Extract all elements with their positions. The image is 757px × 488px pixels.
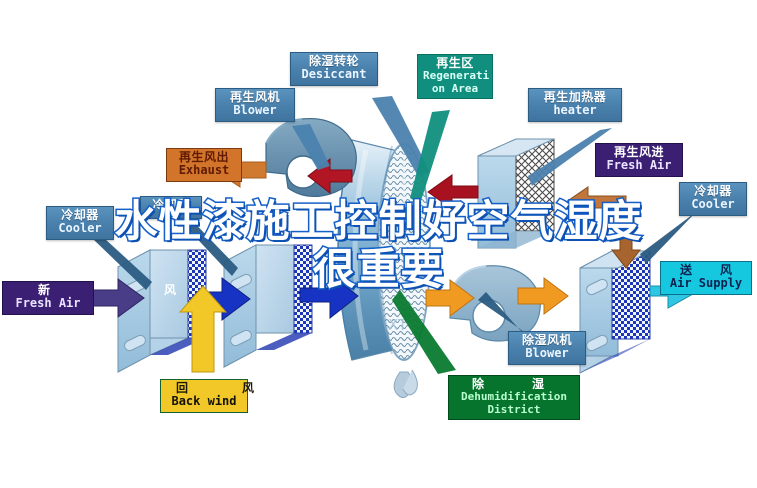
label-cooler-left-a-cn: 冷却器 (52, 209, 108, 222)
label-regen-blower-en: Blower (221, 104, 289, 117)
label-dehum-blower[interactable]: 除湿风机 Blower (508, 331, 586, 365)
label-cooler-left-b-cn: 冷却器 (146, 199, 196, 212)
label-regeneration-area-en-1: Regenerati (423, 70, 487, 82)
label-exhaust[interactable]: 再生风出 Exhaust (166, 148, 242, 182)
label-regeneration-area-cn: 再生区 (423, 57, 487, 70)
label-dehumidification-district-cn: 除 湿 区 (454, 378, 574, 391)
diagram-canvas: XT (0, 0, 757, 488)
label-cooler-right[interactable]: 冷却器 Cooler (679, 182, 747, 216)
label-cooler-right-cn: 冷却器 (685, 185, 741, 198)
label-regen-heater-en: heater (534, 104, 616, 117)
label-cooler-left-a-en: Cooler (52, 222, 108, 235)
label-regen-fresh-air[interactable]: 再生风进 Fresh Air (595, 143, 683, 177)
label-back-wind[interactable]: 回 风 Back wind (160, 379, 248, 413)
label-dehumidification-district-en-2: District (454, 404, 574, 416)
regen-air-arrow (566, 187, 626, 217)
label-back-wind-en: Back wind (166, 395, 242, 408)
label-exhaust-en: Exhaust (172, 164, 236, 177)
label-regen-heater[interactable]: 再生加热器 heater (528, 88, 622, 122)
label-desiccant-rotor[interactable]: 除湿转轮 Desiccant (290, 52, 378, 86)
label-back-wind-cn: 回 风 (166, 382, 242, 395)
regen-hot-arrow-mid (428, 175, 478, 209)
label-cooler-left-b[interactable]: 冷却器 (140, 196, 202, 219)
label-air-supply[interactable]: 送 风 Air Supply (660, 261, 752, 295)
condensate-drop (394, 370, 417, 398)
label-desiccant-rotor-cn: 除湿转轮 (296, 55, 372, 68)
label-dehumidification-district-en-1: Dehumidification (454, 391, 574, 403)
label-regen-blower-cn: 再生风机 (221, 91, 289, 104)
label-dehum-blower-cn: 除湿风机 (514, 334, 580, 347)
label-air-supply-en: Air Supply (666, 277, 746, 290)
label-fresh-air[interactable]: 新 风 Fresh Air (2, 281, 94, 315)
label-cooler-left-a[interactable]: 冷却器 Cooler (46, 206, 114, 240)
label-regen-blower[interactable]: 再生风机 Blower (215, 88, 295, 122)
label-desiccant-rotor-en: Desiccant (296, 68, 372, 81)
label-regeneration-area-en-2: on Area (423, 83, 487, 95)
label-regen-fresh-air-en: Fresh Air (601, 159, 677, 172)
label-fresh-air-en: Fresh Air (8, 297, 88, 310)
label-cooler-right-en: Cooler (685, 198, 741, 211)
label-regeneration-area[interactable]: 再生区 Regenerati on Area (417, 54, 493, 99)
label-air-supply-cn: 送 风 (666, 264, 746, 277)
label-regen-fresh-air-cn: 再生风进 (601, 146, 677, 159)
label-exhaust-cn: 再生风出 (172, 151, 236, 164)
label-regen-heater-cn: 再生加热器 (534, 91, 616, 104)
label-dehum-blower-en: Blower (514, 347, 580, 360)
cooler-coil-right (580, 251, 650, 373)
schematic-artwork: XT (0, 0, 757, 488)
regen-heater-coil (478, 139, 554, 248)
label-fresh-air-cn: 新 风 (8, 284, 88, 297)
label-dehumidification-district[interactable]: 除 湿 区 Dehumidification District (448, 375, 580, 420)
